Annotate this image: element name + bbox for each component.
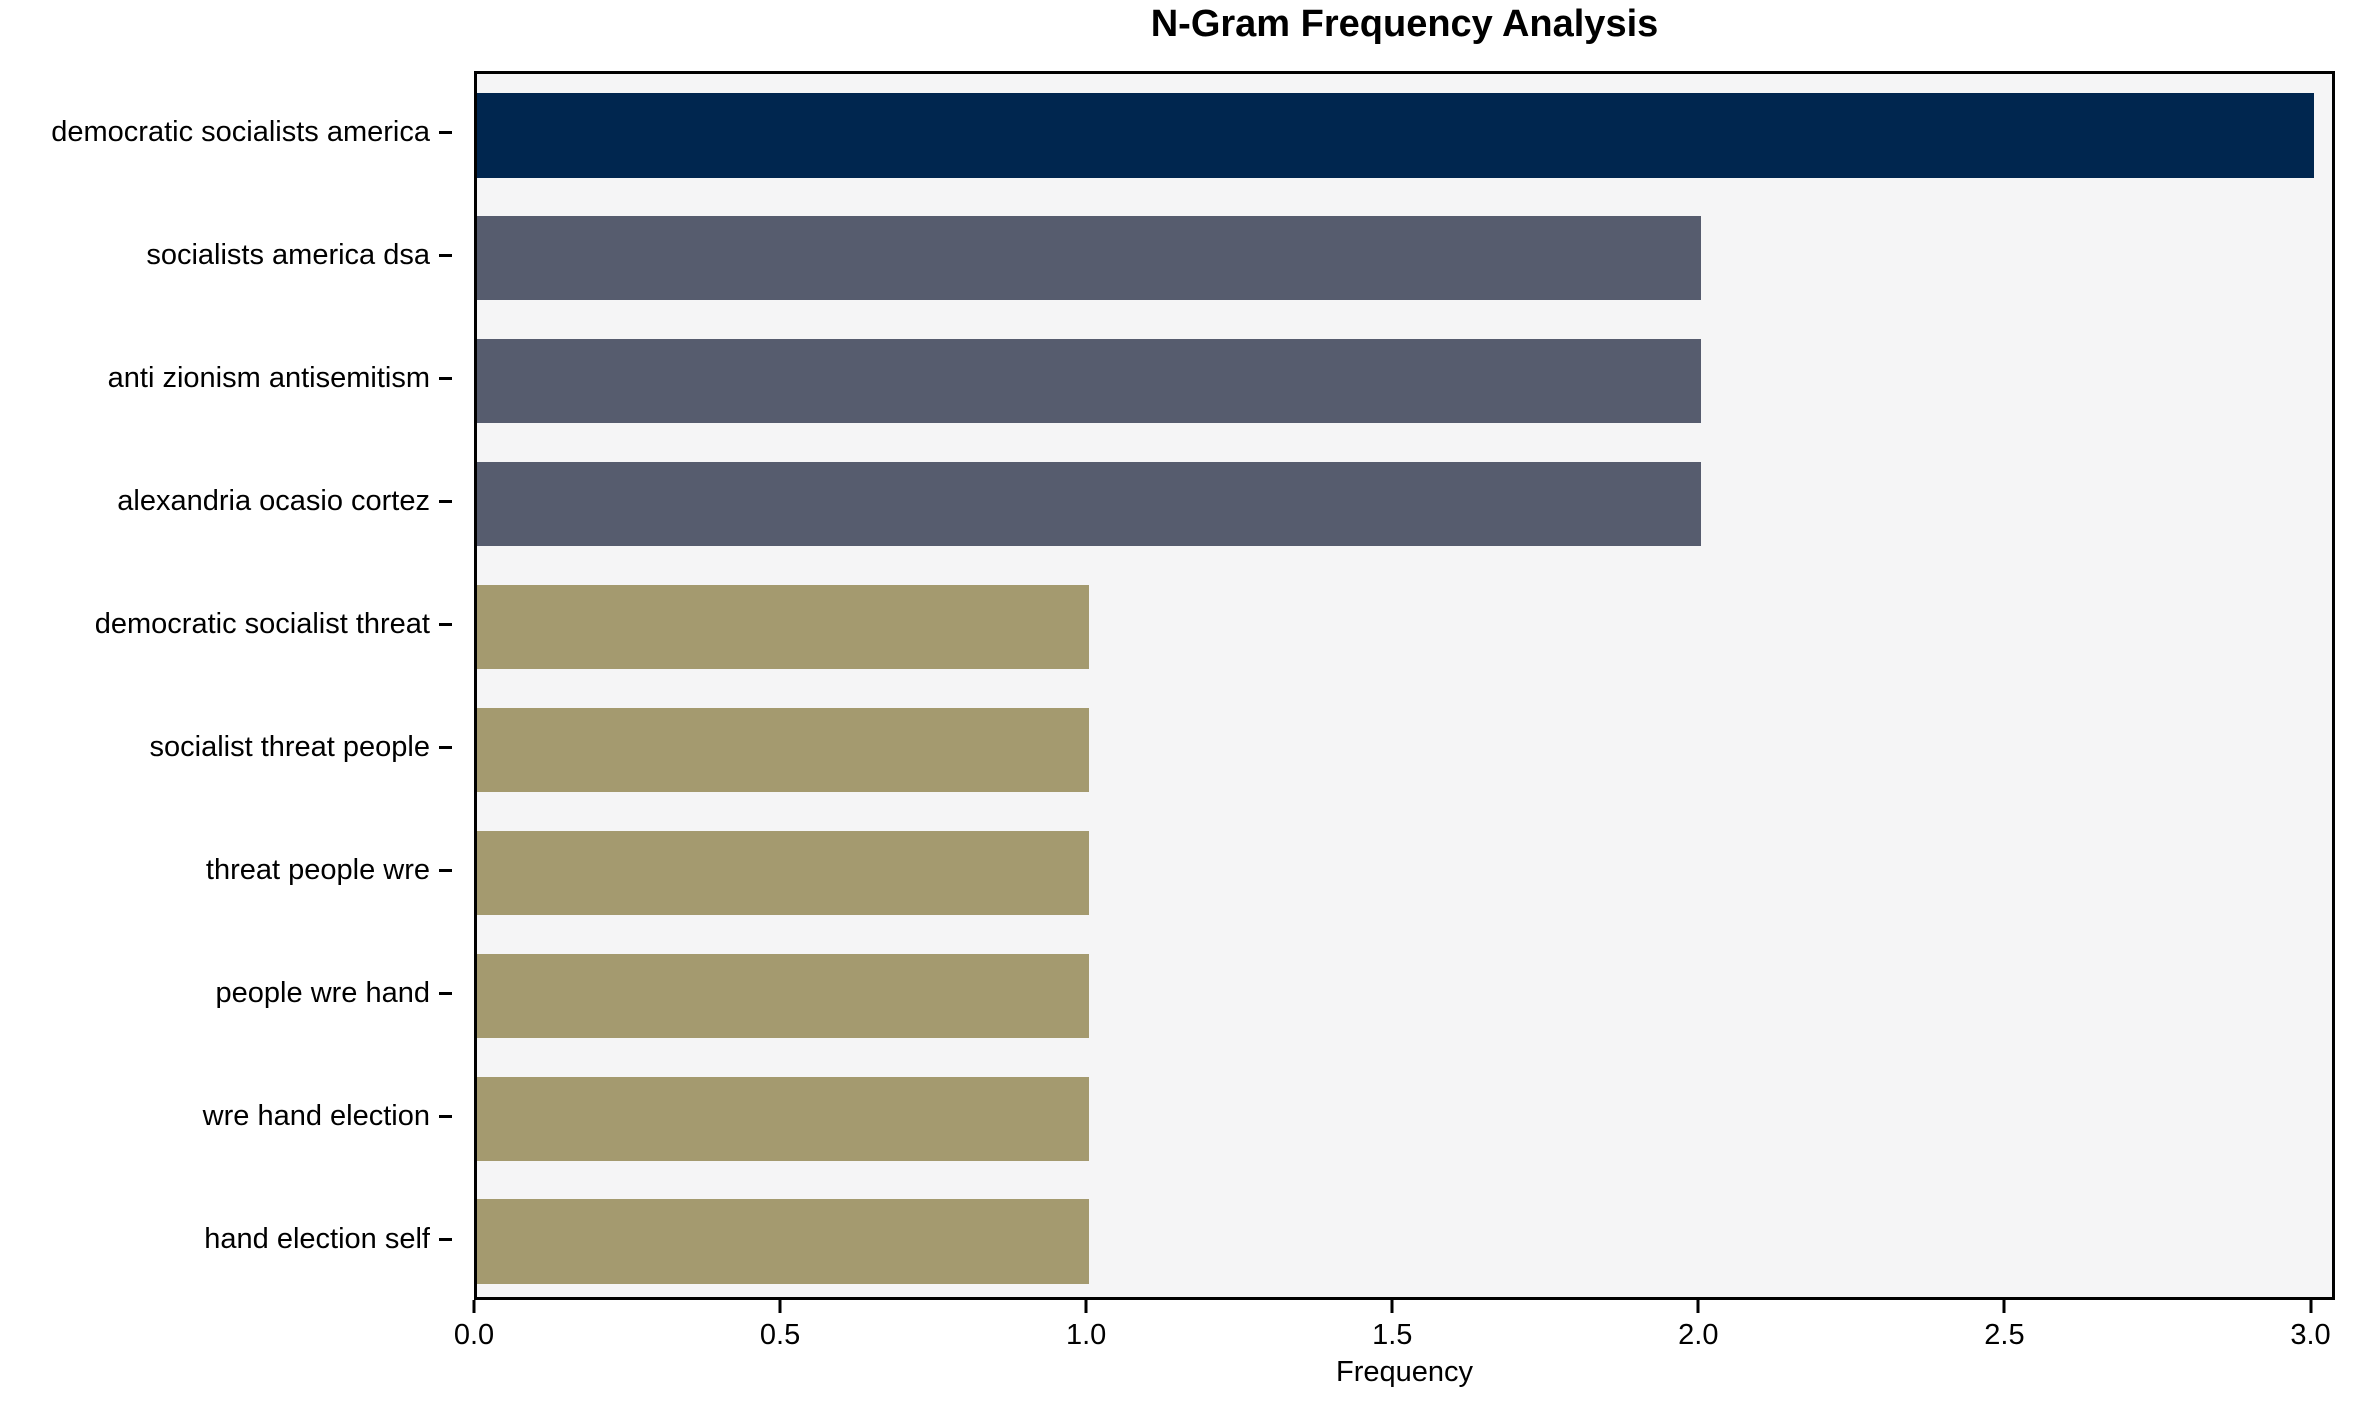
bar: [477, 1077, 1089, 1161]
x-axis-label: Frequency: [474, 1355, 2335, 1389]
y-axis-tick-labels: democratic socialists americasocialists …: [0, 71, 452, 1300]
bar: [477, 585, 1089, 669]
y-tick-label: people wre hand: [216, 976, 430, 1010]
y-tick-mark: [439, 254, 452, 257]
bars-layer: [477, 74, 2332, 1297]
x-tick-label: 2.0: [1678, 1318, 1718, 1352]
y-tick-mark: [439, 992, 452, 995]
y-tick-label: anti zionism antisemitism: [108, 361, 430, 395]
y-tick-label: alexandria ocasio cortez: [117, 484, 430, 518]
bar: [477, 216, 1701, 300]
bar: [477, 954, 1089, 1038]
plot-area: [474, 71, 2335, 1300]
y-tick-mark: [439, 1238, 452, 1241]
x-tick-label: 1.5: [1372, 1318, 1412, 1352]
x-tick-mark: [1697, 1300, 1700, 1313]
x-tick-label: 1.0: [1066, 1318, 1106, 1352]
y-tick-label: democratic socialists america: [51, 115, 430, 149]
x-tick-mark: [2003, 1300, 2006, 1313]
bar: [477, 93, 2314, 177]
bar: [477, 708, 1089, 792]
bar: [477, 339, 1701, 423]
y-tick-mark: [439, 500, 452, 503]
y-tick-label: socialists america dsa: [146, 238, 430, 272]
x-tick-label: 0.5: [760, 1318, 800, 1352]
page-title: N-Gram Frequency Analysis: [474, 2, 2335, 46]
x-tick-mark: [779, 1300, 782, 1313]
x-tick-mark: [473, 1300, 476, 1313]
y-tick-mark: [439, 623, 452, 626]
x-tick-mark: [2309, 1300, 2312, 1313]
y-tick-label: socialist threat people: [150, 730, 431, 764]
bar: [477, 462, 1701, 546]
x-tick-label: 0.0: [454, 1318, 494, 1352]
y-tick-mark: [439, 377, 452, 380]
x-tick-label: 2.5: [1984, 1318, 2024, 1352]
y-tick-label: democratic socialist threat: [95, 607, 430, 641]
y-tick-mark: [439, 1115, 452, 1118]
y-tick-label: hand election self: [204, 1222, 430, 1256]
x-tick-mark: [1391, 1300, 1394, 1313]
y-tick-mark: [439, 746, 452, 749]
y-tick-label: wre hand election: [203, 1099, 430, 1133]
bar: [477, 1199, 1089, 1283]
y-tick-mark: [439, 131, 452, 134]
y-tick-label: threat people wre: [206, 853, 430, 887]
bar: [477, 831, 1089, 915]
y-tick-mark: [439, 869, 452, 872]
x-tick-label: 3.0: [2290, 1318, 2330, 1352]
x-tick-mark: [1085, 1300, 1088, 1313]
chart-figure: N-Gram Frequency Analysis democratic soc…: [0, 0, 2354, 1414]
